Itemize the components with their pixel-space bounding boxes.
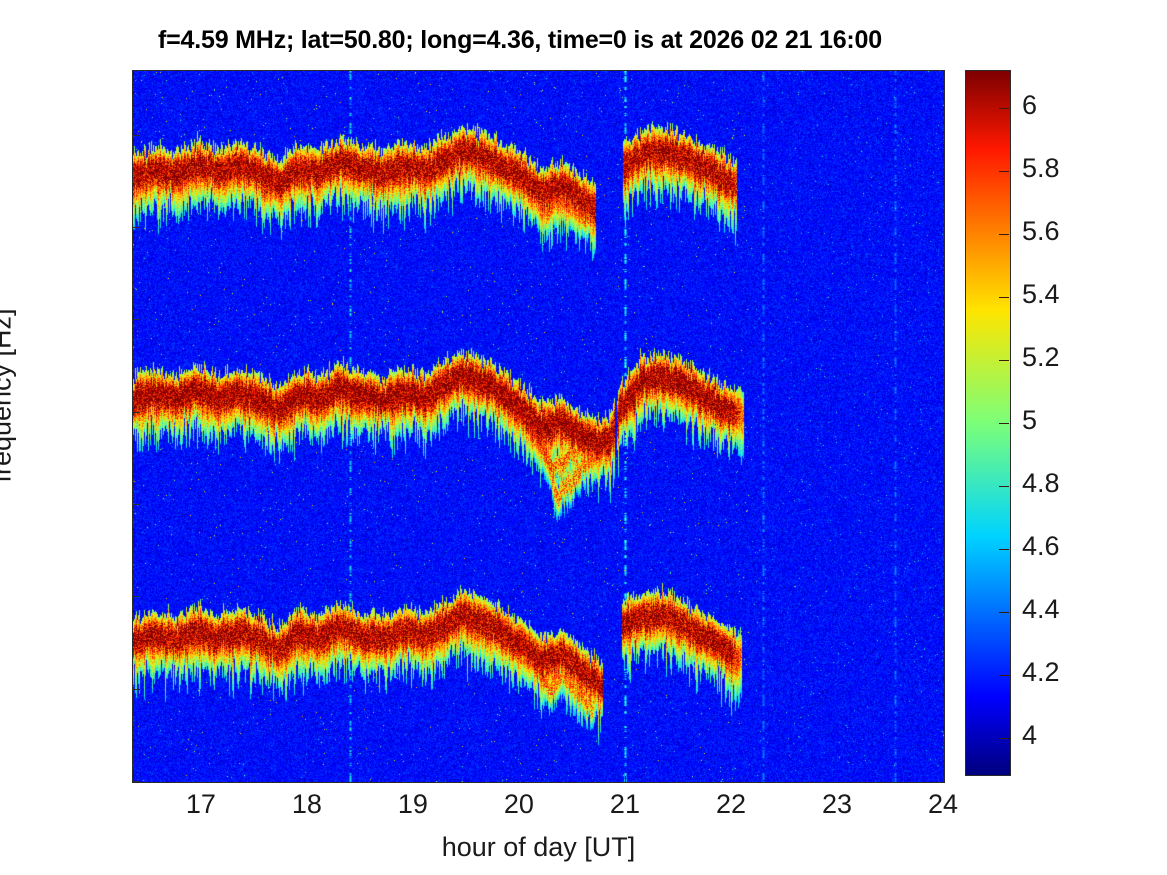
x-tick-label: 17 (161, 789, 241, 820)
colorbar-tick-label: 4.8 (1022, 468, 1112, 499)
colorbar-tick-label: 4.2 (1022, 657, 1112, 688)
colorbar-tick-label: 5.2 (1022, 342, 1112, 373)
x-tick-mark (731, 776, 732, 783)
colorbar-tick-mark (999, 360, 1009, 361)
plot-axes (132, 70, 945, 783)
colorbar-tick-mark (999, 549, 1009, 550)
x-tick-label: 21 (585, 789, 665, 820)
colorbar-tick-label: 5.4 (1022, 279, 1112, 310)
x-tick-label: 19 (373, 789, 453, 820)
colorbar-tick-mark (999, 738, 1009, 739)
y-axis-label: frequency [Hz] (0, 136, 18, 656)
colorbar-tick-label: 5 (1022, 405, 1112, 436)
x-tick-mark (943, 776, 944, 783)
x-tick-label: 22 (691, 789, 771, 820)
spectrogram-figure: f=4.59 MHz; lat=50.80; long=4.36, time=0… (0, 0, 1167, 875)
colorbar-tick-label: 6 (1022, 90, 1112, 121)
x-tick-mark (625, 776, 626, 783)
spectrogram-heatmap (133, 71, 944, 782)
y-tick-mark (132, 596, 140, 597)
x-tick-label: 23 (797, 789, 877, 820)
y-tick-mark (132, 135, 140, 136)
colorbar-tick-mark (999, 675, 1009, 676)
x-tick-mark (201, 776, 202, 783)
y-tick-mark (132, 689, 140, 690)
x-tick-mark (519, 776, 520, 783)
figure-title: f=4.59 MHz; lat=50.80; long=4.36, time=0… (0, 26, 1040, 55)
y-tick-mark (132, 227, 140, 228)
colorbar-tick-label: 4 (1022, 720, 1112, 751)
y-tick-mark (132, 504, 140, 505)
colorbar-tick-label: 4.4 (1022, 594, 1112, 625)
x-tick-mark (307, 776, 308, 783)
x-tick-label: 20 (479, 789, 559, 820)
y-tick-mark (132, 412, 140, 413)
colorbar-tick-mark (999, 612, 1009, 613)
colorbar-tick-mark (999, 486, 1009, 487)
colorbar-tick-mark (999, 297, 1009, 298)
colorbar-tick-mark (999, 108, 1009, 109)
x-tick-label: 24 (903, 789, 983, 820)
y-tick-mark (132, 781, 140, 782)
colorbar-tick-label: 5.8 (1022, 153, 1112, 184)
colorbar-tick-label: 5.6 (1022, 216, 1112, 247)
colorbar-tick-mark (999, 234, 1009, 235)
x-tick-mark (837, 776, 838, 783)
x-axis-label: hour of day [UT] (132, 832, 945, 863)
colorbar-tick-mark (999, 423, 1009, 424)
y-tick-mark (132, 319, 140, 320)
x-tick-mark (413, 776, 414, 783)
x-tick-label: 18 (267, 789, 347, 820)
colorbar-tick-mark (999, 171, 1009, 172)
colorbar-tick-label: 4.6 (1022, 531, 1112, 562)
